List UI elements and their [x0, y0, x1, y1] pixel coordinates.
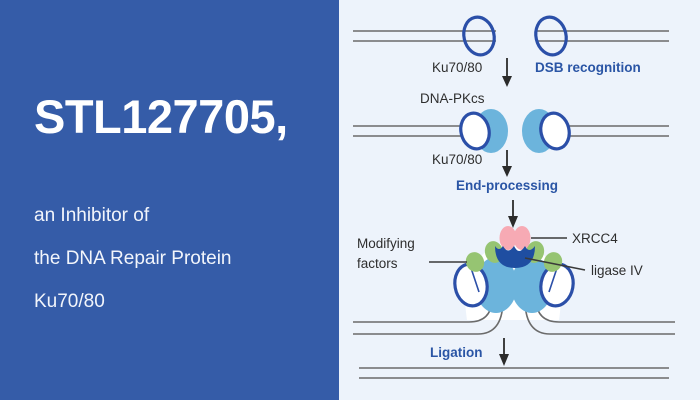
step-1-dsb-recognition-graphic: [353, 14, 669, 58]
nhej-pathway-diagram-panel: Ku70/80 DSB recognition DNA-PKcs: [339, 0, 700, 400]
nhej-diagram-svg: Ku70/80 DSB recognition DNA-PKcs: [339, 0, 700, 400]
label-ku70-80-mid: Ku70/80: [432, 152, 482, 167]
arrow-4-icon: [499, 338, 509, 366]
figure-root: STL127705, an Inhibitor of the DNA Repai…: [0, 0, 700, 400]
step-label-ligation: Ligation: [430, 345, 483, 360]
label-ku70-80-top: Ku70/80: [432, 60, 482, 75]
arrow-2-icon: [502, 150, 512, 177]
arrow-1-icon: [502, 58, 512, 87]
subtitle-line-1: an Inhibitor of: [34, 205, 149, 227]
subtitle-line-2: the DNA Repair Protein: [34, 248, 232, 270]
ku-ring-top-left-icon: [460, 14, 498, 58]
dna-duplex-top-right: [537, 31, 669, 41]
subtitle-line-3: Ku70/80: [34, 291, 105, 313]
page-title: STL127705,: [34, 93, 288, 140]
left-title-panel: STL127705, an Inhibitor of the DNA Repai…: [0, 0, 339, 400]
label-xrcc4: XRCC4: [572, 231, 618, 246]
step-label-end-processing: End-processing: [456, 178, 558, 193]
label-modifying-factors-line2: factors: [357, 256, 398, 271]
ku-ring-top-right-icon: [532, 14, 570, 58]
repaired-dna-duplex: [359, 368, 669, 378]
label-modifying-factors-line1: Modifying: [357, 236, 415, 251]
arrow-3-icon: [508, 200, 518, 228]
step-2-end-processing-graphic: [353, 109, 669, 153]
step-label-dsb-recognition: DSB recognition: [535, 60, 641, 75]
dna-duplex-top-left: [353, 31, 496, 41]
label-dna-pkcs: DNA-PKcs: [420, 91, 485, 106]
xrcc4-blob-right-icon: [514, 226, 531, 250]
label-ligase-iv: ligase IV: [591, 263, 643, 278]
